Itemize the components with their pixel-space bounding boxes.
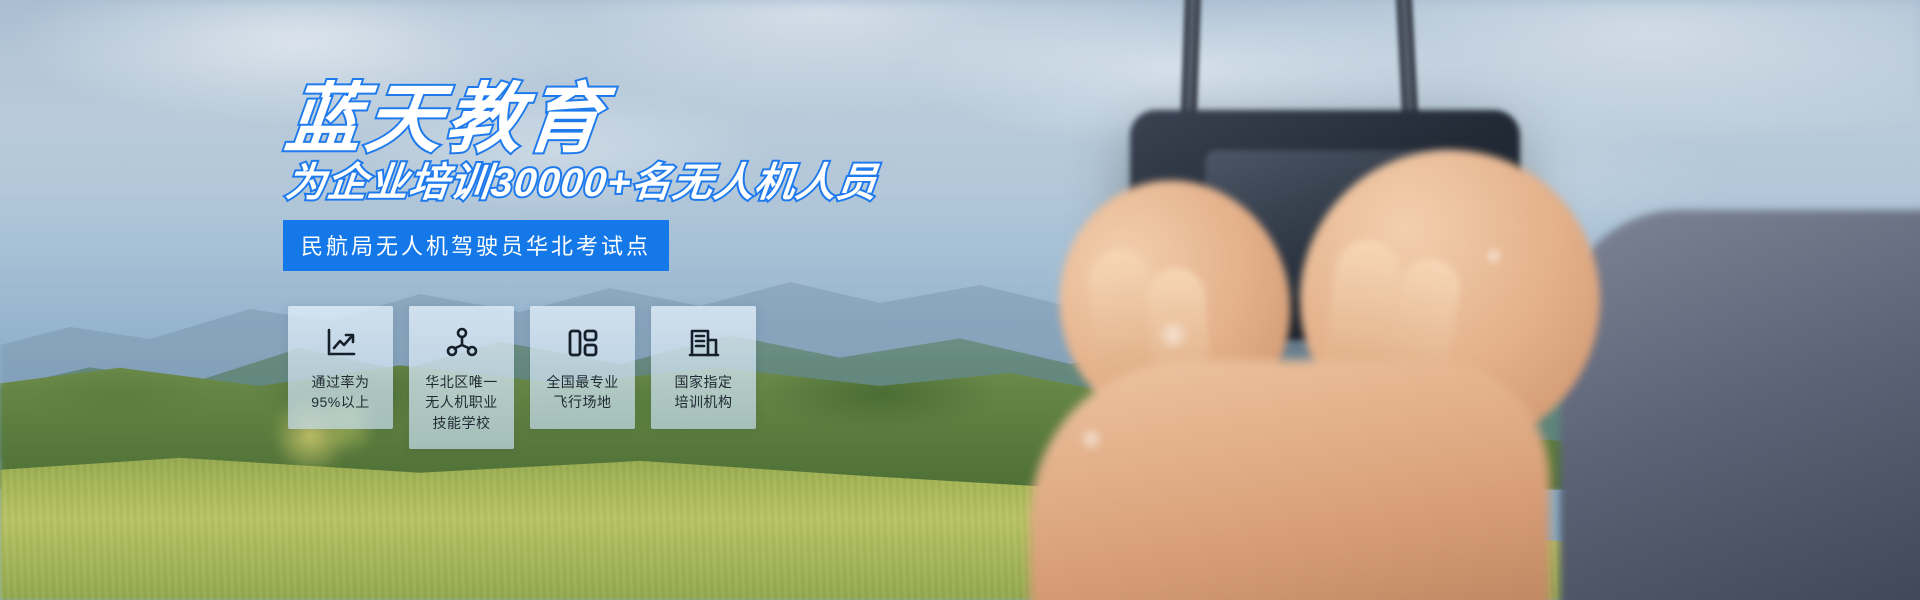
banner-headline: 蓝天教育 <box>282 82 610 158</box>
layout-panels-icon <box>566 324 600 362</box>
building-icon <box>687 324 721 362</box>
banner-subheadline: 为企业培训30000+名无人机人员 <box>284 163 880 203</box>
feature-card[interactable]: 通过率为 95%以上 <box>288 306 393 429</box>
feature-card-text: 全国最专业 飞行场地 <box>546 372 619 413</box>
network-nodes-icon <box>445 324 479 362</box>
banner-content: 蓝天教育 为企业培训30000+名无人机人员 民航局无人机驾驶员华北考试点 通过… <box>0 0 1920 600</box>
feature-card-text: 通过率为 95%以上 <box>311 372 370 413</box>
feature-card[interactable]: 国家指定 培训机构 <box>651 306 756 429</box>
feature-card[interactable]: 华北区唯一 无人机职业 技能学校 <box>409 306 514 449</box>
feature-card-text: 国家指定 培训机构 <box>675 372 733 413</box>
feature-card-list: 通过率为 95%以上 华北区唯一 无人机职业 技能学校 <box>288 306 756 449</box>
chart-growth-icon <box>324 324 358 362</box>
hero-banner: 蓝天教育 为企业培训30000+名无人机人员 民航局无人机驾驶员华北考试点 通过… <box>0 0 1920 600</box>
certification-badge: 民航局无人机驾驶员华北考试点 <box>283 220 669 271</box>
feature-card-text: 华北区唯一 无人机职业 技能学校 <box>425 372 498 433</box>
feature-card[interactable]: 全国最专业 飞行场地 <box>530 306 635 429</box>
